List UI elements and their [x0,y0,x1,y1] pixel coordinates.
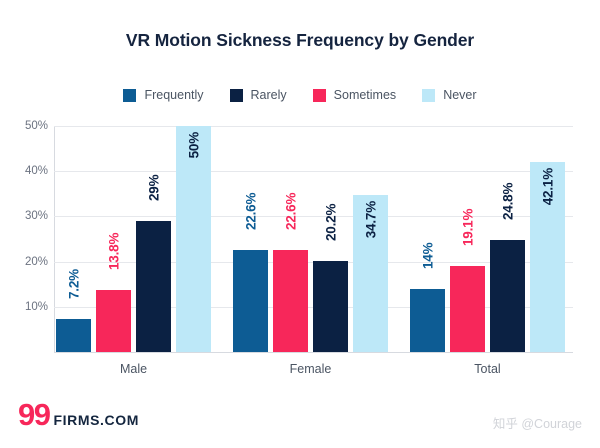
legend-item-frequently[interactable]: Frequently [123,88,203,102]
y-axis-tick-label: 20% [2,256,48,268]
bar-value-label: 50% [186,132,201,158]
logo-firms-text: FIRMS.COM [53,412,139,428]
legend-item-sometimes[interactable]: Sometimes [313,88,397,102]
x-axis-baseline [54,352,573,353]
legend-swatch-icon [123,89,136,102]
bar-value-label: 14% [420,242,435,268]
bar-male-sometimes[interactable]: 13.8% [96,290,131,352]
chart-title: VR Motion Sickness Frequency by Gender [0,30,600,51]
legend-label: Frequently [144,88,203,102]
bar-total-frequently[interactable]: 14% [410,289,445,352]
bar-value-label: 22.6% [283,193,298,230]
watermark: 知乎 @Courage [493,413,582,432]
bar-group-total: 14%19.1%24.8%42.1% [410,126,565,352]
y-axis: 50%40%30%20%10% [0,0,48,448]
legend-swatch-icon [313,89,326,102]
legend-label: Never [443,88,476,102]
bar-male-rarely[interactable]: 29% [136,221,171,352]
plot-area: 7.2%13.8%29%50%22.6%22.6%20.2%34.7%14%19… [54,126,573,352]
bar-female-sometimes[interactable]: 22.6% [273,250,308,352]
logo-99-text: 99 [18,399,49,430]
bar-total-never[interactable]: 42.1% [530,162,565,352]
bar-value-label: 7.2% [66,269,81,299]
bar-value-label: 20.2% [323,203,338,240]
bar-value-label: 34.7% [363,201,378,238]
x-axis-tick-label-male: Male [54,362,214,376]
chart-legend: FrequentlyRarelySometimesNever [0,88,600,102]
legend-label: Sometimes [334,88,397,102]
bar-value-label: 13.8% [106,232,121,269]
y-axis-tick-label: 30% [2,210,48,222]
y-axis-tick-label: 10% [2,301,48,313]
brand-logo: 99 FIRMS.COM [18,399,139,430]
bar-total-sometimes[interactable]: 19.1% [450,266,485,352]
bar-male-frequently[interactable]: 7.2% [56,319,91,352]
bar-value-label: 42.1% [540,168,555,205]
chart-card: VR Motion Sickness Frequency by Gender F… [0,0,600,448]
x-axis-tick-label-total: Total [408,362,568,376]
legend-swatch-icon [230,89,243,102]
bar-female-frequently[interactable]: 22.6% [233,250,268,352]
x-axis-tick-label-female: Female [231,362,391,376]
bar-value-label: 24.8% [500,183,515,220]
bar-value-label: 22.6% [243,193,258,230]
bar-total-rarely[interactable]: 24.8% [490,240,525,352]
legend-label: Rarely [251,88,287,102]
legend-swatch-icon [422,89,435,102]
y-axis-tick-label: 40% [2,165,48,177]
bar-male-never[interactable]: 50% [176,126,211,352]
y-axis-tick-label: 50% [2,120,48,132]
bar-female-rarely[interactable]: 20.2% [313,261,348,352]
bar-value-label: 29% [146,175,161,201]
bar-female-never[interactable]: 34.7% [353,195,388,352]
bar-value-label: 19.1% [460,208,475,245]
bar-group-female: 22.6%22.6%20.2%34.7% [233,126,388,352]
legend-item-never[interactable]: Never [422,88,476,102]
legend-item-rarely[interactable]: Rarely [230,88,287,102]
bar-group-male: 7.2%13.8%29%50% [56,126,211,352]
